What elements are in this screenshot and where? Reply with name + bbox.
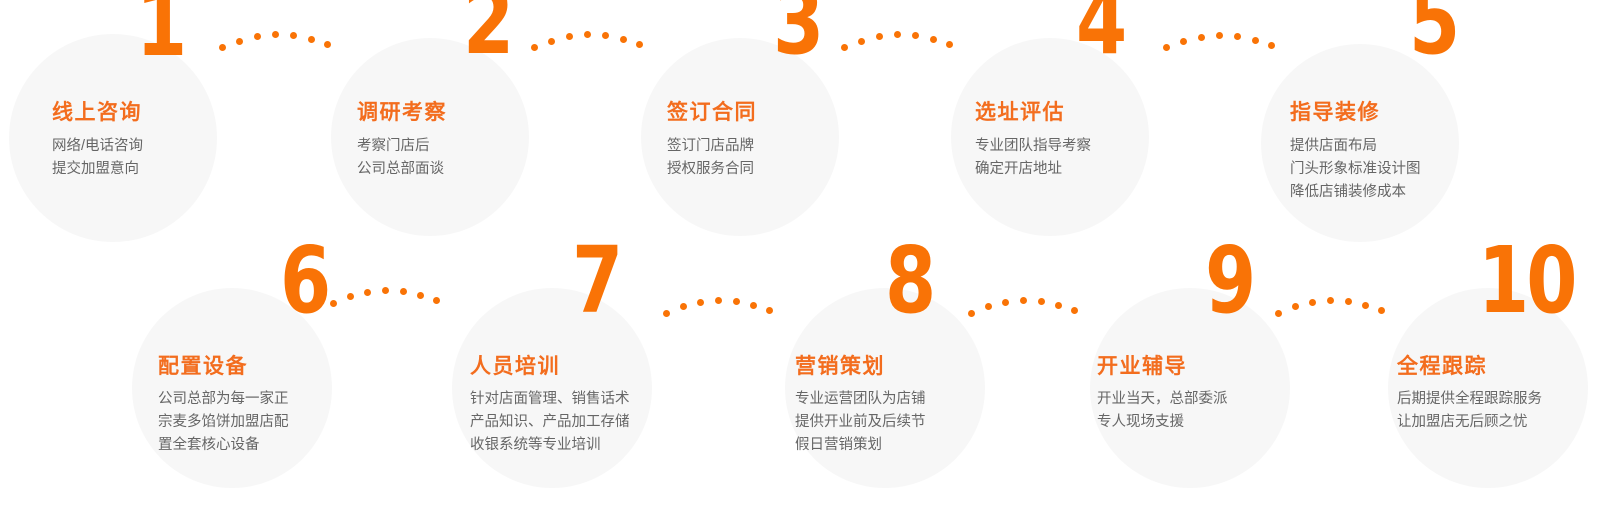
connector-arc-4-5 <box>1163 28 1273 52</box>
connector-arc-6-7 <box>330 283 438 307</box>
step-flow-diagram: 1 线上咨询 网络/电话咨询 提交加盟意向 2 调研考察 考察门店后 公司总部面… <box>0 0 1606 508</box>
step-title: 调研考察 <box>357 96 447 126</box>
step-desc-line: 专人现场支援 <box>1097 411 1228 434</box>
step-desc-line: 提供开业前及后续节 <box>795 411 926 434</box>
step-number: 3 <box>773 0 821 58</box>
step-title: 全程跟踪 <box>1397 350 1487 380</box>
step-description: 专业运营团队为店铺 提供开业前及后续节 假日营销策划 <box>795 388 926 457</box>
step-desc-line: 产品知识、产品加工存储 <box>470 411 630 434</box>
step-desc-line: 公司总部为每一家正 <box>158 388 289 411</box>
step-number: 2 <box>463 0 511 58</box>
step-number: 6 <box>280 245 328 317</box>
step-title: 签订合同 <box>667 96 757 126</box>
step-title: 指导装修 <box>1290 96 1380 126</box>
step-desc-line: 假日营销策划 <box>795 434 926 457</box>
step-desc-line: 提交加盟意向 <box>52 158 143 181</box>
step-desc-line: 提供店面布局 <box>1290 135 1421 158</box>
step-desc-line: 宗麦多馅饼加盟店配 <box>158 411 289 434</box>
step-desc-line: 签订门店品牌 <box>667 135 754 158</box>
step-desc-line: 授权服务合同 <box>667 158 754 181</box>
step-description: 专业团队指导考察 确定开店地址 <box>975 135 1091 181</box>
step-description: 后期提供全程跟踪服务 让加盟店无后顾之忧 <box>1397 388 1542 434</box>
step-desc-line: 让加盟店无后顾之忧 <box>1397 411 1542 434</box>
step-desc-line: 后期提供全程跟踪服务 <box>1397 388 1542 411</box>
connector-arc-9-10 <box>1275 293 1383 317</box>
step-title: 营销策划 <box>795 350 885 380</box>
step-title: 配置设备 <box>158 350 248 380</box>
step-desc-line: 门头形象标准设计图 <box>1290 158 1421 181</box>
step-description: 签订门店品牌 授权服务合同 <box>667 135 754 181</box>
step-desc-line: 公司总部面谈 <box>357 158 444 181</box>
step-description: 针对店面管理、销售话术 产品知识、产品加工存储 收银系统等专业培训 <box>470 388 630 457</box>
step-description: 考察门店后 公司总部面谈 <box>357 135 444 181</box>
step-number: 4 <box>1076 0 1124 58</box>
connector-arc-7-8 <box>663 293 771 317</box>
step-desc-line: 降低店铺装修成本 <box>1290 181 1421 204</box>
step-title: 选址评估 <box>975 96 1065 126</box>
connector-arc-1-2 <box>219 26 329 50</box>
step-description: 网络/电话咨询 提交加盟意向 <box>52 135 143 181</box>
step-desc-line: 针对店面管理、销售话术 <box>470 388 630 411</box>
step-desc-line: 确定开店地址 <box>975 158 1091 181</box>
step-desc-line: 收银系统等专业培训 <box>470 434 630 457</box>
step-desc-line: 考察门店后 <box>357 135 444 158</box>
connector-arc-3-4 <box>841 26 951 50</box>
step-description: 开业当天，总部委派 专人现场支援 <box>1097 388 1228 434</box>
step-desc-line: 专业运营团队为店铺 <box>795 388 926 411</box>
connector-arc-2-3 <box>531 26 641 50</box>
connector-arc-8-9 <box>968 293 1076 317</box>
step-number: 8 <box>885 245 933 317</box>
step-description: 公司总部为每一家正 宗麦多馅饼加盟店配 置全套核心设备 <box>158 388 289 457</box>
step-title: 人员培训 <box>470 350 560 380</box>
step-number: 7 <box>572 245 620 317</box>
step-desc-line: 网络/电话咨询 <box>52 135 143 158</box>
step-number: 1 <box>136 0 184 60</box>
step-number: 5 <box>1409 0 1457 58</box>
step-desc-line: 专业团队指导考察 <box>975 135 1091 158</box>
step-desc-line: 开业当天，总部委派 <box>1097 388 1228 411</box>
step-title: 开业辅导 <box>1097 350 1187 380</box>
step-number: 9 <box>1205 245 1253 317</box>
step-desc-line: 置全套核心设备 <box>158 434 289 457</box>
step-title: 线上咨询 <box>52 96 142 126</box>
step-description: 提供店面布局 门头形象标准设计图 降低店铺装修成本 <box>1290 135 1421 204</box>
step-number: 10 <box>1478 245 1575 317</box>
